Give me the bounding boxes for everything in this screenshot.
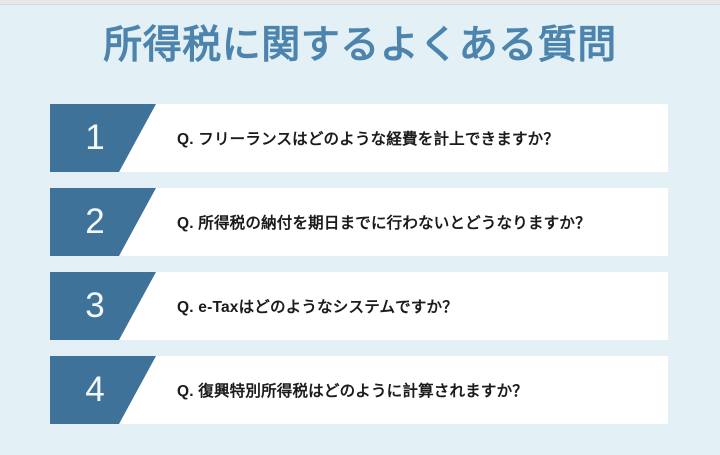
faq-question: Q. e-Taxはどのようなシステムですか？ xyxy=(177,272,458,340)
faq-number: 4 xyxy=(50,356,140,424)
faq-number: 1 xyxy=(50,104,140,172)
faq-slide: 所得税に関するよくある質問 1 Q. フリーランスはどのような経費を計上できます… xyxy=(0,0,720,455)
top-strip xyxy=(0,0,720,5)
faq-number: 3 xyxy=(50,272,140,340)
faq-list: 1 Q. フリーランスはどのような経費を計上できますか？ 2 Q. 所得税の納付… xyxy=(0,104,720,440)
faq-number: 2 xyxy=(50,188,140,256)
faq-card[interactable]: 4 Q. 復興特別所得税はどのように計算されますか？ xyxy=(50,356,668,424)
faq-card[interactable]: 3 Q. e-Taxはどのようなシステムですか？ xyxy=(50,272,668,340)
faq-question: Q. 復興特別所得税はどのように計算されますか？ xyxy=(177,356,528,424)
faq-card[interactable]: 1 Q. フリーランスはどのような経費を計上できますか？ xyxy=(50,104,668,172)
list-item[interactable]: 2 Q. 所得税の納付を期日までに行わないとどうなりますか？ xyxy=(0,188,720,256)
faq-question: Q. 所得税の納付を期日までに行わないとどうなりますか？ xyxy=(177,188,591,256)
faq-card[interactable]: 2 Q. 所得税の納付を期日までに行わないとどうなりますか？ xyxy=(50,188,668,256)
list-item[interactable]: 1 Q. フリーランスはどのような経費を計上できますか？ xyxy=(0,104,720,172)
page-title: 所得税に関するよくある質問 xyxy=(0,22,720,70)
faq-question: Q. フリーランスはどのような経費を計上できますか？ xyxy=(177,104,559,172)
top-strip-highlight xyxy=(0,0,720,4)
list-item[interactable]: 3 Q. e-Taxはどのようなシステムですか？ xyxy=(0,272,720,340)
list-item[interactable]: 4 Q. 復興特別所得税はどのように計算されますか？ xyxy=(0,356,720,424)
